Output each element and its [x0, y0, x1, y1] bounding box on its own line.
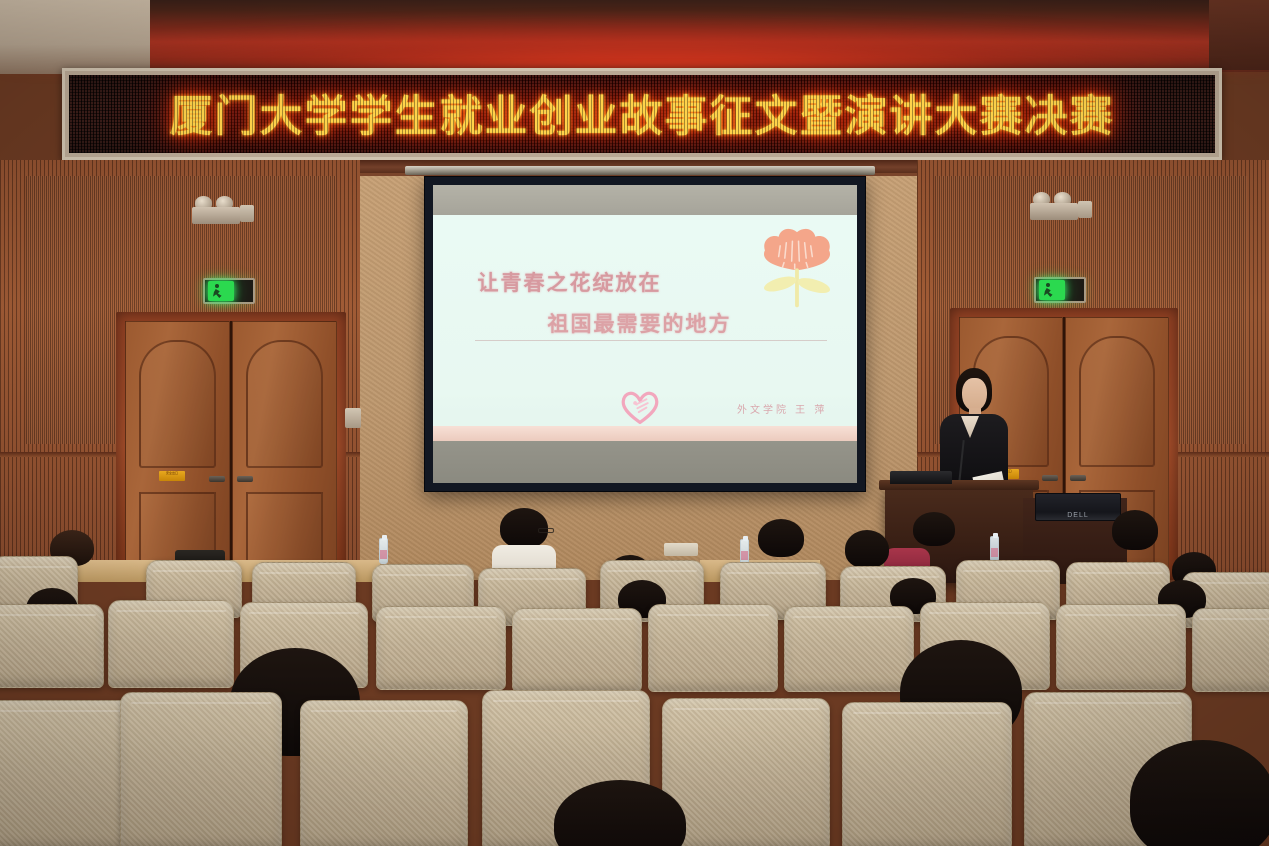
emergency-light-body [192, 207, 240, 224]
flower-icon [758, 226, 836, 310]
audience-head [1112, 510, 1158, 550]
door-leaves-left: 安全出口 [125, 321, 337, 580]
wall-outlet [1078, 201, 1092, 218]
laptop-icon [890, 471, 952, 484]
running-person-exit-icon [208, 281, 234, 301]
water-bottle [990, 536, 999, 562]
led-banner-text: 厦门大学学生就业创业故事征文暨演讲大赛决赛 [170, 82, 1115, 144]
seat [512, 608, 642, 692]
seat [300, 700, 468, 846]
auditorium-photo: 厦门大学学生就业创业故事征文暨演讲大赛决赛 [0, 0, 1269, 846]
dell-monitor: DELL [1035, 493, 1121, 521]
door-panel-bottom [246, 492, 322, 569]
seat [376, 606, 506, 690]
door-handle-icon[interactable] [1070, 475, 1086, 481]
led-banner-screen: 厦门大学学生就业创业故事征文暨演讲大赛决赛 [69, 75, 1215, 153]
door-handle-icon[interactable] [209, 476, 225, 482]
exit-sign-right [1034, 277, 1086, 303]
eyeglasses-icon [538, 528, 554, 533]
seat [108, 600, 234, 688]
door-panel-top [1079, 336, 1155, 467]
seat [842, 702, 1012, 846]
wall-plate-left [345, 408, 361, 428]
seat [784, 606, 914, 692]
wall-outlet [240, 205, 254, 222]
door-left[interactable]: 安全出口 [116, 312, 346, 580]
screen-blank-bottom [433, 441, 857, 483]
seat [0, 604, 104, 688]
audience-head [913, 512, 955, 546]
door-leaf[interactable]: 安全出口 [125, 321, 230, 580]
audience-head [845, 530, 889, 568]
seat [648, 604, 778, 692]
slide-divider [475, 340, 827, 341]
slide-title-line2: 祖国最需要的地方 [547, 308, 731, 338]
water-bottle [379, 538, 388, 564]
slide-title-line1: 让青春之花绽放在 [478, 267, 662, 297]
slide-bottom-band [433, 426, 857, 441]
ceiling-soffit-left [0, 0, 150, 74]
door-panel-top [246, 340, 322, 469]
presentation-slide: 让青春之花绽放在 祖国最需要的地方 外文学院 王 萍 [433, 215, 857, 441]
wall-socket-panel [664, 543, 698, 556]
emergency-light-left [192, 190, 254, 224]
door-handle-icon[interactable] [1042, 475, 1058, 481]
ceiling-red-glow [0, 6, 1269, 72]
emergency-light-body [1030, 203, 1078, 220]
seat [662, 698, 830, 846]
door-panel-top [139, 340, 215, 469]
seat [1056, 604, 1186, 690]
heart-hand-icon [620, 389, 660, 425]
speaker-face [962, 378, 987, 411]
slide-author: 外文学院 王 萍 [737, 401, 827, 416]
projector-screen-rail [405, 166, 875, 175]
seat [0, 700, 132, 846]
emergency-light-right [1030, 186, 1092, 220]
door-handle-icon[interactable] [237, 476, 253, 482]
projection-screen: 让青春之花绽放在 祖国最需要的地方 外文学院 王 萍 [424, 176, 866, 492]
door-notice-sign: 安全出口 [159, 471, 185, 481]
seat [120, 692, 282, 846]
ceiling-soffit-right [1209, 0, 1269, 70]
led-banner: 厦门大学学生就业创业故事征文暨演讲大赛决赛 [62, 68, 1222, 160]
door-leaf[interactable] [232, 321, 337, 580]
dell-logo: DELL [1067, 512, 1089, 520]
seat [1192, 608, 1269, 692]
audience-head [758, 519, 804, 557]
exit-sign-left [203, 278, 255, 304]
running-person-exit-icon [1039, 280, 1065, 300]
screen-blank-top [433, 185, 857, 215]
projection-screen-surface: 让青春之花绽放在 祖国最需要的地方 外文学院 王 萍 [433, 185, 857, 483]
ceiling [0, 0, 1269, 72]
